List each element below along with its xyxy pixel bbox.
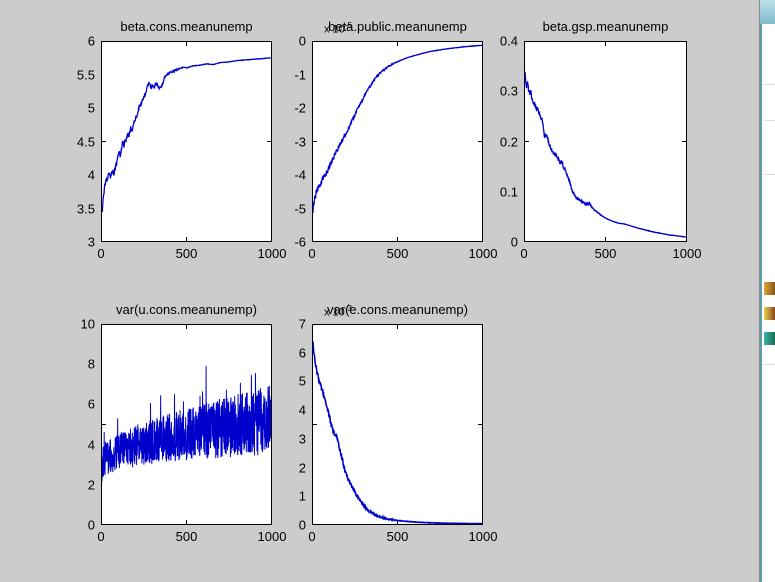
y-tick-label: 4	[299, 403, 306, 418]
trace-line	[102, 325, 271, 524]
axes-area	[312, 324, 483, 525]
subplot-beta-gsp-meanunemp[interactable]: beta.gsp.meanunemp 00.10.20.30.4 0500100…	[524, 41, 687, 242]
y-tick-label: 10	[81, 317, 95, 332]
x-tick-label: 500	[387, 246, 409, 261]
y-tick-label: 4	[88, 437, 95, 452]
y-tick-label: 3	[299, 431, 306, 446]
x-tick-label: 500	[387, 529, 409, 544]
subplot-var-u-cons-meanunemp[interactable]: var(u.cons.meanunemp) 0246810 05001000	[101, 324, 272, 525]
x-tick-label: 1000	[258, 246, 287, 261]
axes-area	[524, 41, 687, 242]
x-tick-label: 500	[595, 246, 617, 261]
subplot-beta-public-meanunemp[interactable]: x 10-5 beta.public.meanunemp -6-5-4-3-2-…	[312, 41, 483, 242]
plot-title: beta.gsp.meanunemp	[524, 19, 687, 34]
x-tick-label: 0	[520, 246, 527, 261]
y-tick-label: 0	[299, 518, 306, 533]
x-tick-label: 1000	[673, 246, 702, 261]
trace-line	[102, 42, 271, 241]
x-tick-label: 1000	[469, 246, 498, 261]
y-tick-label: 2	[88, 477, 95, 492]
y-tick-label: 8	[88, 357, 95, 372]
y-tick-label: 0	[299, 34, 306, 49]
y-tick-label: 3	[88, 235, 95, 250]
axes-area	[312, 41, 483, 242]
y-tick-label: 2	[299, 460, 306, 475]
y-tick-label: 1	[299, 489, 306, 504]
plot-title: beta.cons.meanunemp	[101, 19, 272, 34]
y-tick-label: 7	[299, 317, 306, 332]
y-tick-label: 6	[88, 34, 95, 49]
y-tick-label: 0	[511, 235, 518, 250]
background-window-titlebar	[760, 0, 775, 24]
y-tick-label: 4	[88, 168, 95, 183]
y-tick-label: 0.3	[500, 84, 518, 99]
x-tick-label: 1000	[469, 529, 498, 544]
plot-title: var(u.cons.meanunemp)	[101, 302, 272, 317]
background-window-sliver[interactable]	[760, 0, 775, 582]
y-tick-label: 0.2	[500, 134, 518, 149]
y-tick-label: 5	[88, 101, 95, 116]
y-tick-label: 6	[88, 397, 95, 412]
subplot-var-e-cons-meanunemp[interactable]: x 10-3 var(e.cons.meanunemp) 01234567 05…	[312, 324, 483, 525]
y-tick-label: 5.5	[77, 67, 95, 82]
axes-area	[101, 324, 272, 525]
x-tick-label: 0	[97, 529, 104, 544]
subplot-beta-cons-meanunemp[interactable]: beta.cons.meanunemp 33.544.555.56 050010…	[101, 41, 272, 242]
y-tick-label: -6	[294, 235, 306, 250]
trace-line	[313, 42, 482, 241]
background-window-body	[760, 24, 775, 582]
x-tick-label: 500	[176, 529, 198, 544]
trace-line	[313, 325, 482, 524]
y-tick-label: -1	[294, 67, 306, 82]
y-tick-label: 3.5	[77, 201, 95, 216]
plot-title: var(e.cons.meanunemp)	[312, 302, 483, 317]
y-tick-label: 4.5	[77, 134, 95, 149]
x-tick-label: 0	[308, 529, 315, 544]
x-tick-label: 500	[176, 246, 198, 261]
y-tick-label: 0	[88, 518, 95, 533]
trace-line	[525, 42, 686, 241]
y-tick-label: 5	[299, 374, 306, 389]
x-tick-label: 0	[308, 246, 315, 261]
plot-title: beta.public.meanunemp	[312, 19, 483, 34]
matlab-figure-window: beta.cons.meanunemp 33.544.555.56 050010…	[0, 0, 760, 582]
list-item-icon	[764, 332, 775, 345]
x-tick-label: 1000	[258, 529, 287, 544]
y-tick-label: 6	[299, 345, 306, 360]
list-item-icon	[764, 282, 775, 295]
y-tick-label: -4	[294, 168, 306, 183]
axes-area	[101, 41, 272, 242]
y-tick-label: -5	[294, 201, 306, 216]
y-tick-label: -3	[294, 134, 306, 149]
y-tick-label: 0.4	[500, 34, 518, 49]
y-tick-label: 0.1	[500, 184, 518, 199]
x-tick-label: 0	[97, 246, 104, 261]
y-tick-label: -2	[294, 101, 306, 116]
list-item-icon	[764, 307, 775, 320]
